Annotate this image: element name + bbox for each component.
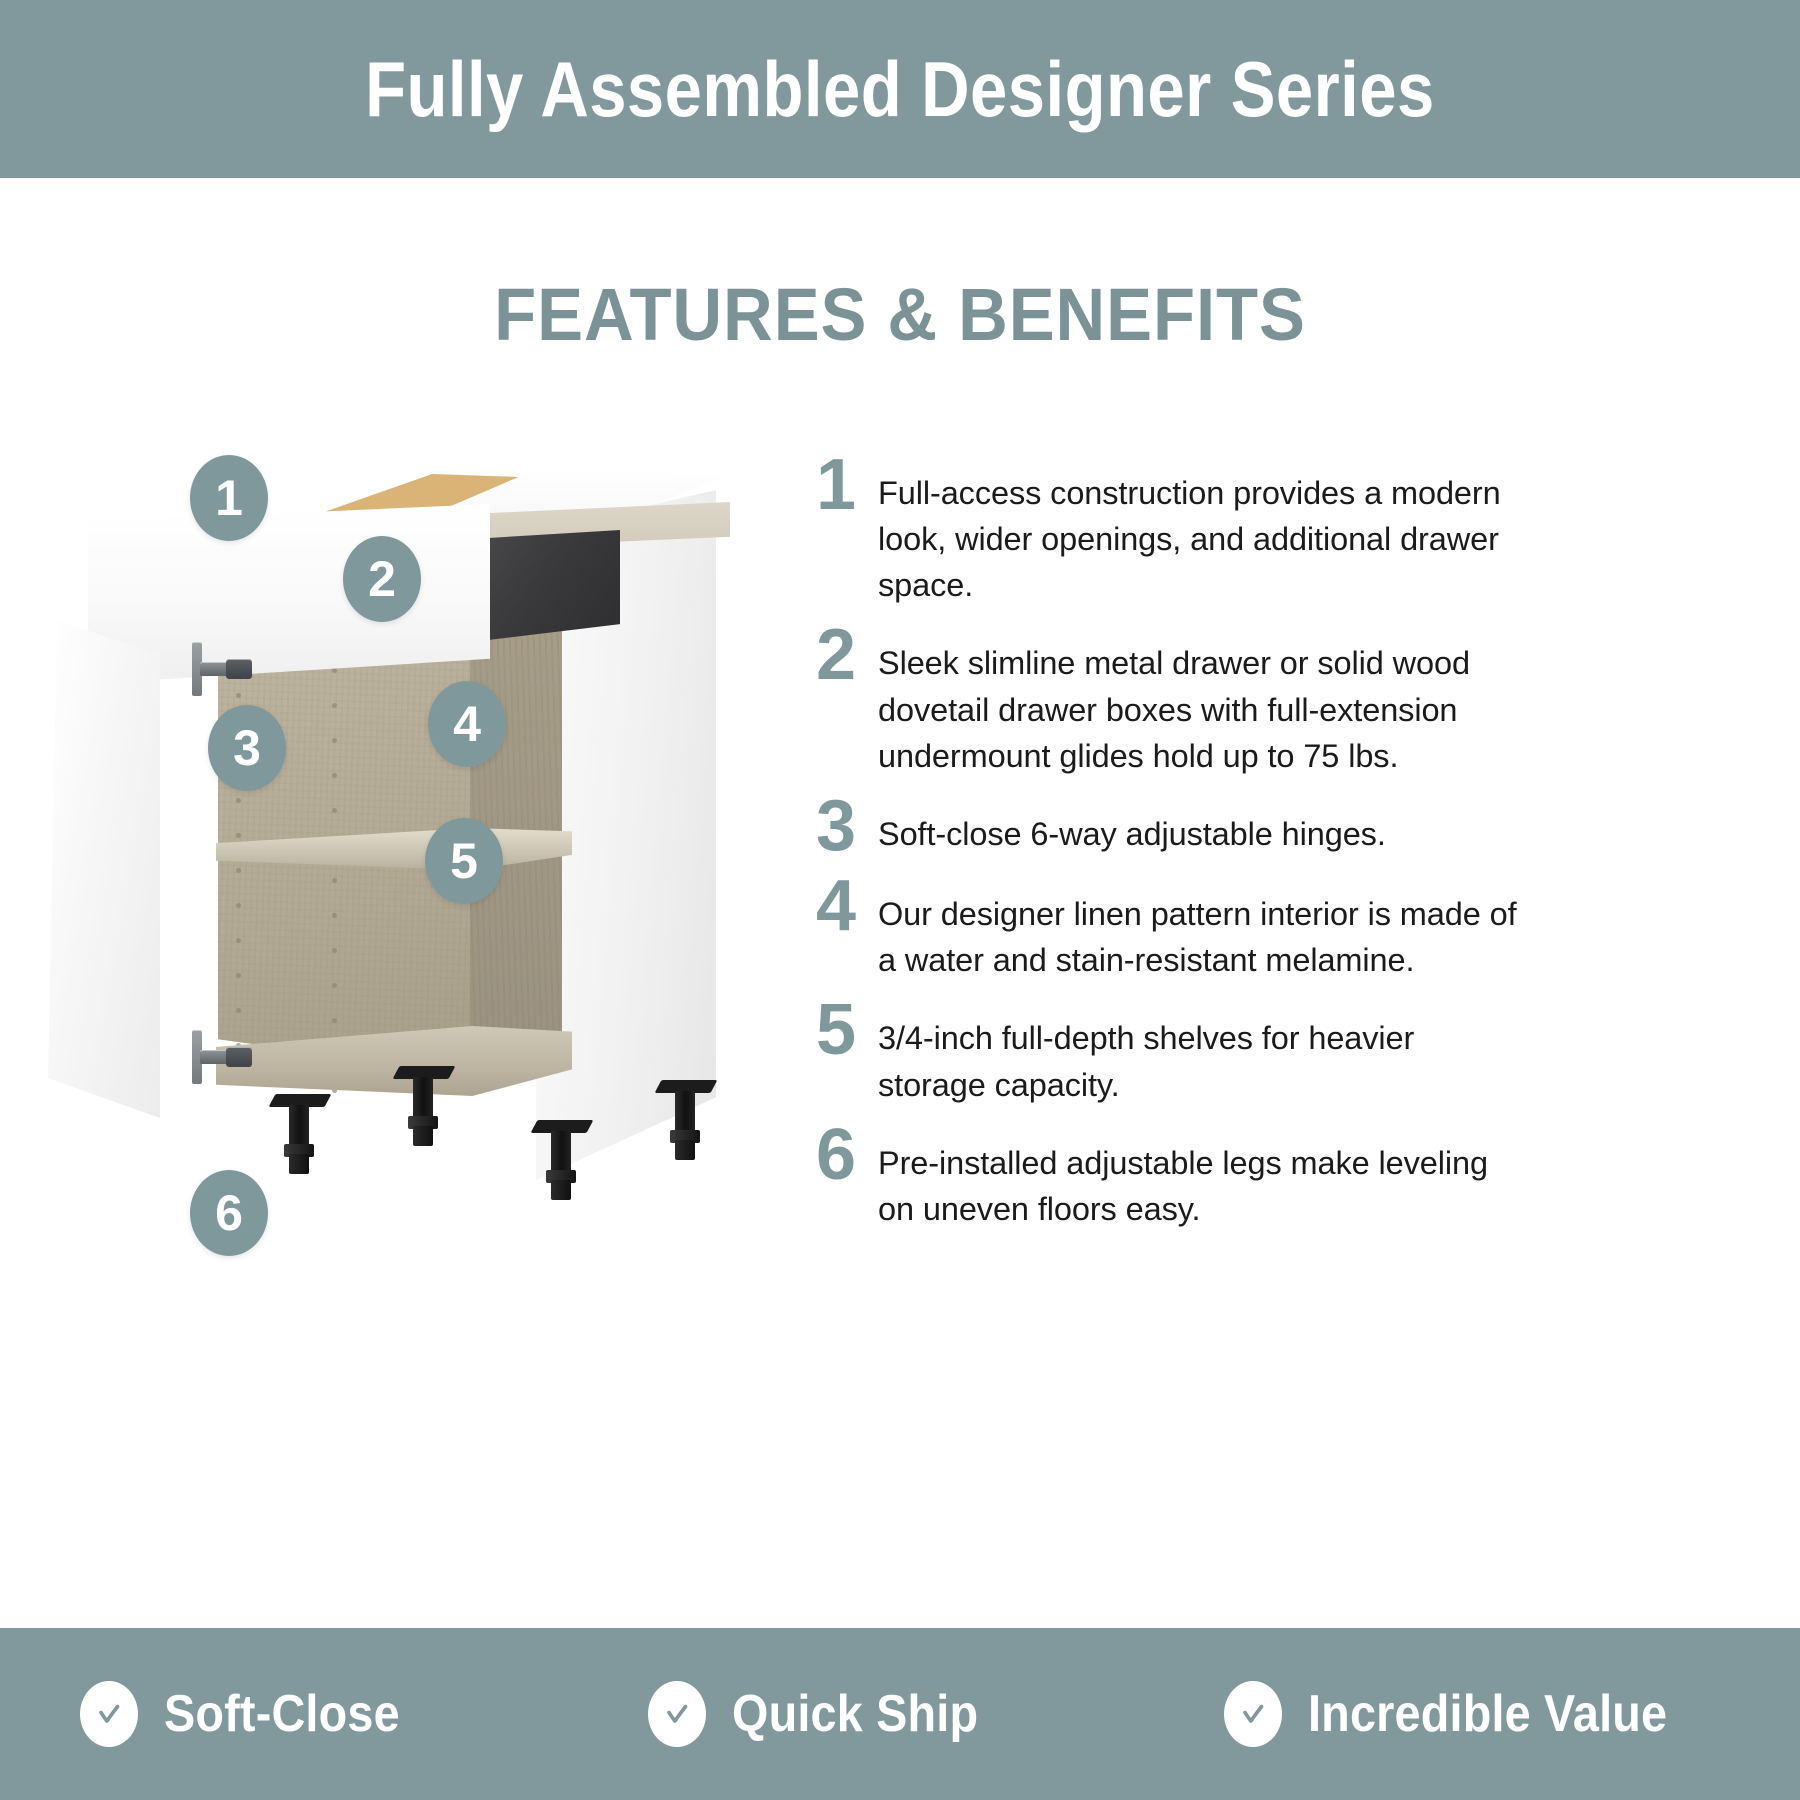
hinge-lower-cup [226, 1047, 252, 1067]
callout-badge-6: 6 [190, 1170, 268, 1256]
feature-text-5: 3/4-inch full-depth shelves for heavier … [878, 997, 1520, 1107]
footer-badge-quick-ship: Quick Ship [648, 1681, 1006, 1747]
header-banner: Fully Assembled Designer Series [0, 0, 1800, 178]
feature-text-2: Sleek slimline metal drawer or solid woo… [878, 622, 1520, 778]
callout-badge-1: 1 [190, 455, 268, 541]
footer-label-soft-close: Soft-Close [164, 1688, 400, 1740]
feature-item-4: 4 Our designer linen pattern interior is… [800, 873, 1520, 983]
check-circle-icon [80, 1681, 138, 1747]
callout-badge-4: 4 [428, 681, 506, 767]
metal-drawer-box [472, 530, 620, 642]
footer-badge-incredible-value: Incredible Value [1224, 1681, 1707, 1747]
feature-number-3: 3 [800, 793, 878, 859]
cabinet-door-open [48, 620, 160, 1118]
footer-banner: Soft-Close Quick Ship Incredible Value [0, 1628, 1800, 1800]
feature-number-4: 4 [800, 873, 878, 939]
feature-number-5: 5 [800, 997, 878, 1063]
callout-badge-5: 5 [425, 818, 503, 904]
feature-number-2: 2 [800, 622, 878, 688]
feature-item-5: 5 3/4-inch full-depth shelves for heavie… [800, 997, 1520, 1107]
footer-label-quick-ship: Quick Ship [732, 1688, 978, 1740]
callout-badge-3: 3 [208, 705, 286, 791]
footer-badge-soft-close: Soft-Close [80, 1681, 426, 1747]
feature-text-4: Our designer linen pattern interior is m… [878, 873, 1520, 983]
section-heading: FEATURES & BENEFITS [63, 278, 1737, 352]
feature-item-6: 6 Pre-installed adjustable legs make lev… [800, 1122, 1520, 1232]
page-title: Fully Assembled Designer Series [365, 50, 1435, 128]
check-circle-icon [648, 1681, 706, 1747]
feature-text-1: Full-access construction provides a mode… [878, 452, 1520, 608]
feature-text-3: Soft-close 6-way adjustable hinges. [878, 793, 1520, 857]
feature-item-2: 2 Sleek slimline metal drawer or solid w… [800, 622, 1520, 778]
feature-text-6: Pre-installed adjustable legs make level… [878, 1122, 1520, 1232]
feature-number-1: 1 [800, 452, 878, 518]
feature-number-6: 6 [800, 1122, 878, 1188]
check-circle-icon [1224, 1681, 1282, 1747]
features-list: 1 Full-access construction provides a mo… [800, 452, 1520, 1246]
feature-item-3: 3 Soft-close 6-way adjustable hinges. [800, 793, 1520, 859]
footer-label-incredible-value: Incredible Value [1308, 1688, 1667, 1740]
product-illustration [40, 430, 800, 1330]
hinge-upper-cup [226, 659, 252, 679]
feature-item-1: 1 Full-access construction provides a mo… [800, 452, 1520, 608]
infographic-page: Fully Assembled Designer Series FEATURES… [0, 0, 1800, 1800]
callout-badge-2: 2 [343, 536, 421, 622]
